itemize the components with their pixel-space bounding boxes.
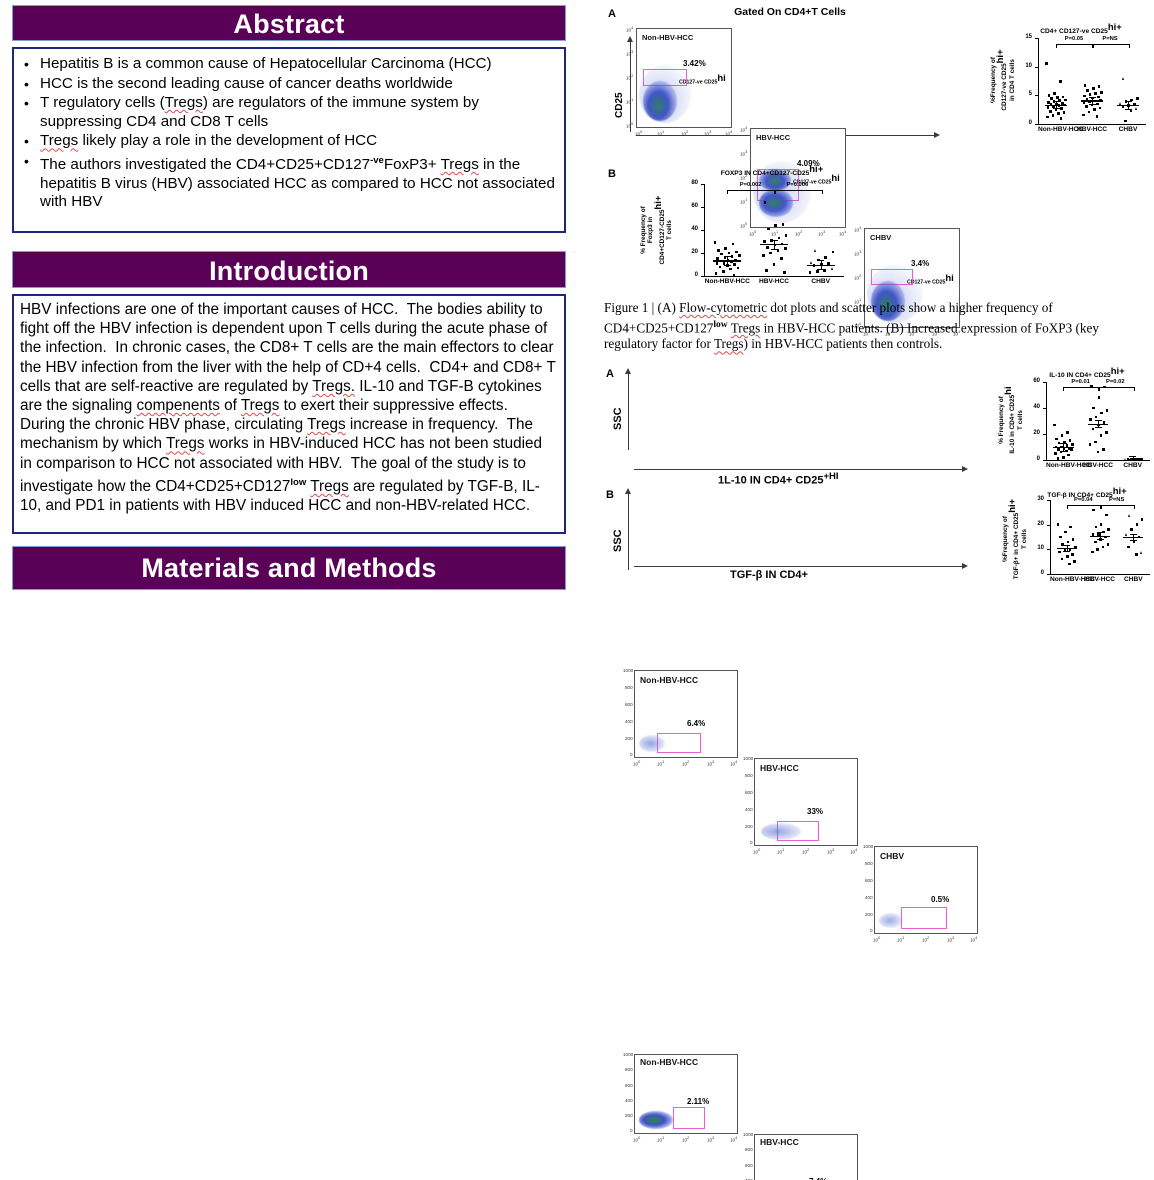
- scatter-pvalue-label: P=NS: [1100, 497, 1133, 503]
- flow-plot-label: CHBV: [870, 233, 891, 242]
- scatter-error-cap: [1060, 451, 1067, 452]
- scatter-x-tick-label: CHBV: [1117, 576, 1150, 583]
- figure2-panel-b-letter: B: [606, 489, 614, 501]
- scatter-data-point: [1071, 443, 1074, 446]
- flow-plot-chbv-il10: CHBV 0.5% 1000 800 600 400 200 0 100 101…: [874, 846, 978, 934]
- scatter-data-point: [1089, 443, 1092, 446]
- scatter-data-point: [1086, 89, 1089, 92]
- scatter-error-cap: [1089, 97, 1096, 98]
- figure1-panel-a-title: Gated On CD4+T Cells: [660, 6, 920, 18]
- scatter-data-point: [724, 247, 727, 250]
- scatter-error-bar: [1056, 101, 1057, 109]
- scatter-pvalue-label: P=0.02: [1098, 379, 1133, 385]
- scatter-x-tick-label: CHBV: [1110, 126, 1146, 133]
- scatter-data-point: [1085, 105, 1088, 108]
- scatter-data-point: [1098, 85, 1101, 88]
- flow-plot-non-hbv-hcc-il10: Non-HBV-HCC 6.4% 1000 800 600 400 200 0 …: [634, 670, 738, 758]
- scatter-data-point: [810, 261, 812, 264]
- scatter-data-point: [1136, 523, 1139, 526]
- scatter-pvalue-label: P=0.05: [1056, 36, 1092, 42]
- figure2b-xaxis-line: [634, 566, 964, 567]
- scatter-x-tick-label: Non-HBV-HCC: [704, 278, 751, 285]
- abstract-title: Abstract: [233, 9, 344, 39]
- scatter-data-point: [783, 271, 786, 274]
- flow-plot-percent: 7.4%: [809, 1177, 827, 1180]
- scatter-data-point: [1063, 111, 1066, 114]
- scatter-title: FOXP3 IN CD4+CD127-CD25hi+: [687, 164, 857, 177]
- materials-title: Materials and Methods: [141, 553, 436, 583]
- scatter-y-tick-label: 10: [1024, 545, 1044, 551]
- scatter-error-cap: [1063, 551, 1070, 552]
- figure2a-xaxis-label: 1L-10 IN CD4+ CD25+HI: [718, 471, 839, 487]
- scatter-y-tickmark: [1047, 500, 1050, 501]
- scatter-y-tick-label: 10: [1012, 63, 1032, 69]
- scatter-data-point: [1066, 431, 1069, 434]
- scatter-data-point: [1067, 541, 1070, 544]
- scatter-data-point: [778, 237, 781, 240]
- scatter-data-point: [1068, 563, 1071, 566]
- scatter-data-point: [1124, 120, 1127, 123]
- scatter-data-point: [1083, 95, 1086, 98]
- gate-rectangle: [673, 1107, 705, 1129]
- scatter-data-point: [717, 249, 720, 252]
- scatter-data-point: [1122, 77, 1124, 80]
- scatter-data-point: [1052, 114, 1055, 117]
- scatter-data-point: [1059, 80, 1062, 83]
- scatter-data-point: [737, 267, 740, 270]
- scatter-y-tick-label: 15: [1012, 34, 1032, 40]
- abstract-bullet-list: Hepatitis B is a common cause of Hepatoc…: [20, 55, 556, 212]
- scatter-data-point: [735, 251, 738, 254]
- scatter-y-tick-label: 30: [1024, 496, 1044, 502]
- scatter-x-tick-label: CHBV: [1115, 462, 1150, 469]
- scatter-data-point: [1095, 526, 1098, 529]
- scatter-y-tick-label: 0: [1012, 120, 1032, 126]
- scatter-data-point: [733, 263, 736, 266]
- figure2b-yaxis-line: [628, 492, 629, 570]
- scatter-data-point: [763, 240, 766, 243]
- scatter-data-point: [1092, 87, 1095, 90]
- scatter-data-point: [733, 274, 736, 277]
- scatter-error-cap: [1053, 108, 1060, 109]
- scatter-data-point: [1064, 531, 1067, 534]
- figure1-panel-a-letter: A: [608, 8, 616, 20]
- scatter-error-cap: [1125, 101, 1132, 102]
- scatter-data-point: [1140, 551, 1142, 554]
- scatter-data-point: [1067, 454, 1070, 457]
- scatter-data-point: [784, 247, 787, 250]
- scatter-y-tickmark: [1043, 460, 1046, 461]
- scatter-y-tickmark: [1043, 434, 1046, 435]
- scatter-data-point: [1062, 456, 1065, 459]
- scatter-y-tickmark: [1047, 549, 1050, 550]
- scatter-data-point: [1099, 107, 1102, 110]
- scatter-data-point: [1096, 103, 1099, 106]
- scatter-y-tickmark: [701, 207, 704, 208]
- scatter-data-point: [1046, 116, 1049, 119]
- scatter-error-cap: [724, 265, 731, 266]
- figure2a-xaxis-arrow: [962, 466, 968, 472]
- scatter-data-point: [1094, 92, 1097, 95]
- scatter-data-point: [1057, 112, 1060, 115]
- flow-plot-hbv-hcc-il10: HBV-HCC 33% 1000 800 600 400 200 0 100 1…: [754, 758, 858, 846]
- scatter-data-point: [714, 241, 717, 244]
- section-header-materials: Materials and Methods: [12, 546, 566, 590]
- abstract-box: Hepatitis B is a common cause of Hepatoc…: [12, 47, 566, 233]
- scatter-y-tickmark: [1043, 382, 1046, 383]
- scatter-data-point: [1127, 546, 1130, 549]
- scatter-data-point: [831, 267, 833, 270]
- scatter-data-point: [1093, 108, 1096, 111]
- scatter-error-cap: [1130, 534, 1137, 535]
- flow-plot-label: CHBV: [880, 851, 904, 861]
- figure1-caption: Figure 1 | (A) Flow-cytometric dot plots…: [604, 300, 1150, 353]
- scatter-data-point: [1088, 111, 1091, 114]
- figure1-xaxis-arrow: [934, 132, 940, 138]
- scatter-data-point: [1100, 412, 1103, 415]
- scatter-data-point: [1092, 407, 1095, 410]
- scatter-data-point: [1128, 514, 1130, 517]
- scatter-data-point: [1070, 448, 1073, 451]
- scatter-data-point: [1094, 541, 1097, 544]
- scatter-significance-bracket: [1063, 387, 1100, 391]
- scatter-y-tick-label: 40: [1020, 404, 1040, 410]
- scatter-error-cap: [724, 256, 731, 257]
- scatter-y-tick-label: 20: [678, 249, 698, 255]
- introduction-body: HBV infections are one of the important …: [20, 300, 558, 515]
- scatter-pvalue-label: P=NS: [1092, 36, 1128, 42]
- flow-plot-percent: 3.4%: [911, 259, 929, 268]
- flow-plot-non-hbv-hcc-cd25: Non-HBV-HCC 3.42% CD127-ve CD25hi 104 10…: [636, 28, 732, 128]
- scatter-significance-bracket: [774, 190, 823, 194]
- scatter-error-cap: [771, 249, 778, 250]
- scatter-data-point: [1098, 396, 1101, 399]
- scatter-data-point: [814, 249, 816, 252]
- scatter-y-tick-label: 20: [1024, 521, 1044, 527]
- scatter-data-point: [774, 224, 777, 227]
- scatter-x-tick-label: HBV-HCC: [1083, 576, 1116, 583]
- scatter-error-cap: [1125, 109, 1132, 110]
- figure2a-yaxis-arrow: [625, 368, 631, 374]
- flow-plot-label: HBV-HCC: [756, 133, 790, 142]
- scatter-data-point: [1048, 94, 1051, 97]
- scatter-x-axis: [704, 276, 844, 277]
- scatter-data-point: [1082, 114, 1085, 117]
- scatter-error-bar: [727, 256, 728, 264]
- scatter-data-point: [832, 251, 835, 254]
- scatter-data-point: [1061, 558, 1064, 561]
- scatter-y-tickmark: [1035, 38, 1038, 39]
- scatter-data-point: [1097, 451, 1100, 454]
- scatter-error-cap: [1097, 539, 1104, 540]
- scatter-data-point: [764, 201, 767, 204]
- scatter-data-point: [809, 271, 812, 274]
- list-item: Tregs likely play a role in the developm…: [20, 132, 556, 151]
- scatter-y-tickmark: [701, 253, 704, 254]
- scatter-data-point: [1135, 107, 1137, 110]
- scatter-error-cap: [1053, 101, 1060, 102]
- scatter-data-point: [1102, 448, 1105, 451]
- scatter-data-point: [1084, 84, 1087, 87]
- figure2a-yaxis-label: SSC: [612, 407, 624, 430]
- scatter-error-cap: [1095, 427, 1102, 428]
- scatter-y-axis: [1050, 500, 1051, 574]
- scatter-y-tick-label: 0: [1020, 456, 1040, 462]
- scatter-y-tickmark: [1035, 124, 1038, 125]
- flow-plot-label: Non-HBV-HCC: [640, 1057, 698, 1067]
- flow-plot-percent: 2.11%: [687, 1097, 709, 1106]
- scatter-data-point: [1053, 92, 1056, 95]
- flow-plot-label: Non-HBV-HCC: [642, 33, 693, 42]
- scatter-error-cap: [1060, 443, 1067, 444]
- figure2b-yaxis-label: SSC: [612, 529, 624, 552]
- left-column: Abstract Hepatitis B is a common cause o…: [0, 0, 578, 590]
- scatter-data-point: [722, 270, 725, 273]
- scatter-data-point: [1097, 96, 1100, 99]
- poster-root: Abstract Hepatitis B is a common cause o…: [0, 0, 1154, 590]
- scatter-data-point: [1054, 452, 1057, 455]
- scatter-data-point: [1100, 91, 1103, 94]
- scatter-data-point: [715, 272, 718, 275]
- scatter-data-point: [1072, 538, 1075, 541]
- scatter-error-cap: [1097, 532, 1104, 533]
- scatter-error-cap: [817, 269, 824, 270]
- scatter-error-cap: [1129, 456, 1136, 457]
- scatter-y-tick-label: 5: [1012, 91, 1032, 97]
- figure2b-xaxis-label: TGF-β IN CD4+: [730, 569, 808, 581]
- scatter-data-point: [1096, 115, 1099, 118]
- scatter-error-cap: [1089, 104, 1096, 105]
- scatter-data-point: [785, 234, 788, 237]
- scatter-error-cap: [1129, 460, 1136, 461]
- scatter-data-point: [762, 254, 765, 257]
- scatter-data-point: [1102, 546, 1105, 549]
- scatter-data-point: [765, 269, 768, 272]
- scatter-y-tick-label: 0: [1024, 570, 1044, 576]
- scatter-data-point: [1094, 441, 1097, 444]
- scatter-x-tick-label: HBV-HCC: [1081, 462, 1116, 469]
- figure2a-yaxis-line: [628, 372, 629, 450]
- scatter-data-point: [1107, 543, 1110, 546]
- scatter-data-point: [1135, 553, 1138, 556]
- scatter-significance-bracket: [1098, 387, 1135, 391]
- scatter-data-point: [1089, 418, 1092, 421]
- gate-rectangle: [901, 907, 947, 929]
- density-cloud-outer: [639, 65, 691, 123]
- figure1-yaxis-label: CD25: [614, 92, 625, 118]
- scatter-error-bar: [1098, 420, 1099, 427]
- flow-plot-label: HBV-HCC: [760, 763, 799, 773]
- scatter-plot-tgfb: TGF-β IN CD4+ CD25hi+ %Frequency ofTGF-β…: [996, 486, 1154, 590]
- scatter-y-tickmark: [1047, 574, 1050, 575]
- density-cloud: [879, 913, 903, 928]
- scatter-data-point: [719, 266, 722, 269]
- scatter-error-cap: [1130, 540, 1137, 541]
- list-item: HCC is the second leading cause of cance…: [20, 75, 556, 94]
- list-item: T regulatory cells (Tregs) are regulator…: [20, 94, 556, 131]
- scatter-data-point: [1057, 523, 1060, 526]
- scatter-x-tick-label: Non-HBV-HCC: [1050, 576, 1083, 583]
- figure1-yaxis-arrow: [627, 36, 633, 42]
- scatter-error-cap: [1095, 420, 1102, 421]
- scatter-data-point: [728, 252, 731, 255]
- scatter-x-axis: [1050, 574, 1150, 575]
- scatter-x-axis: [1038, 124, 1146, 125]
- scatter-data-point: [773, 263, 776, 266]
- scatter-data-point: [1130, 528, 1133, 531]
- scatter-y-tickmark: [1035, 95, 1038, 96]
- scatter-data-point: [1105, 514, 1108, 517]
- scatter-data-point: [1136, 97, 1139, 100]
- flow-plot-non-hbv-hcc-tgfb: Non-HBV-HCC 2.11% 1000 800 600 400 200 0…: [634, 1054, 738, 1134]
- scatter-data-point: [780, 257, 783, 260]
- scatter-y-tickmark: [1043, 408, 1046, 409]
- scatter-y-tickmark: [701, 276, 704, 277]
- scatter-ylabel: % Frequency ofFoxp3 inCD4+CD127-CD25hi+T…: [640, 178, 674, 282]
- scatter-data-point: [1058, 551, 1061, 554]
- scatter-data-point: [769, 252, 772, 255]
- scatter-data-point: [716, 262, 719, 265]
- scatter-data-point: [1141, 518, 1144, 521]
- scatter-data-point: [1045, 62, 1048, 65]
- scatter-error-cap: [771, 240, 778, 241]
- scatter-y-axis: [704, 184, 705, 276]
- scatter-pvalue-label: P=0.04: [1067, 497, 1100, 503]
- section-header-introduction: Introduction: [12, 251, 566, 288]
- scatter-data-point: [1060, 107, 1063, 110]
- scatter-data-point: [767, 228, 770, 231]
- scatter-significance-bracket: [1100, 505, 1135, 509]
- scatter-y-tickmark: [1047, 525, 1050, 526]
- scatter-y-tick-label: 0: [678, 272, 698, 278]
- scatter-data-point: [1047, 106, 1050, 109]
- scatter-data-point: [1069, 526, 1072, 529]
- list-item: The authors investigated the CD4+CD25+CD…: [20, 152, 556, 212]
- scatter-y-tickmark: [1035, 67, 1038, 68]
- scatter-ylabel: %Frequency ofCD127-ve CD25hi+in CD4 T ce…: [990, 34, 1016, 126]
- scatter-pvalue-label: P=0.01: [1063, 379, 1098, 385]
- scatter-data-point: [1055, 438, 1058, 441]
- scatter-data-point: [1083, 101, 1086, 104]
- scatter-y-axis: [1038, 38, 1039, 124]
- scatter-data-point: [729, 268, 732, 271]
- scatter-data-point: [1069, 439, 1072, 442]
- scatter-error-bar: [1128, 101, 1129, 109]
- scatter-data-point: [1059, 536, 1062, 539]
- scatter-data-point: [1061, 434, 1064, 437]
- scatter-data-point: [824, 256, 827, 259]
- flow-plot-label: Non-HBV-HCC: [640, 675, 698, 685]
- scatter-data-point: [1095, 416, 1098, 419]
- scatter-data-point: [732, 243, 735, 246]
- flow-plot-percent: 3.42%: [683, 59, 706, 68]
- scatter-x-tick-label: Non-HBV-HCC: [1038, 126, 1074, 133]
- scatter-y-tick-label: 60: [678, 203, 698, 209]
- flow-plot-percent: 6.4%: [687, 719, 705, 728]
- scatter-x-tick-label: Non-HBV-HCC: [1046, 462, 1081, 469]
- density-cloud: [639, 735, 665, 752]
- section-header-abstract: Abstract: [12, 5, 566, 41]
- scatter-ylabel: % Frequency ofIL-10 in CD4+ CD25hiT cell…: [998, 376, 1024, 464]
- scatter-data-point: [1100, 434, 1103, 437]
- scatter-error-bar: [1063, 443, 1064, 450]
- figure1-panel-b-letter: B: [608, 168, 616, 180]
- scatter-pvalue-label: P=0.002: [727, 182, 774, 188]
- scatter-y-tickmark: [701, 230, 704, 231]
- flow-plot-percent: 33%: [807, 807, 823, 816]
- scatter-plot-il10: IL-10 IN CD4+ CD25hi+ % Frequency ofIL-1…: [990, 366, 1154, 474]
- scatter-data-point: [1107, 528, 1110, 531]
- figure2-panel-a-letter: A: [606, 368, 614, 380]
- scatter-data-point: [1060, 117, 1063, 120]
- scatter-data-point: [1053, 424, 1056, 427]
- scatter-data-point: [1049, 110, 1052, 113]
- scatter-title: IL-10 IN CD4+ CD25hi+: [1020, 366, 1154, 379]
- scatter-data-point: [766, 246, 769, 249]
- density-cloud: [639, 1111, 673, 1129]
- flow-plot-percent: 0.5%: [931, 895, 949, 904]
- introduction-title: Introduction: [209, 256, 369, 286]
- scatter-y-tick-label: 20: [1020, 430, 1040, 436]
- scatter-data-point: [1057, 457, 1060, 460]
- scatter-data-point: [782, 223, 785, 226]
- scatter-significance-bracket: [1067, 505, 1102, 509]
- scatter-data-point: [720, 253, 723, 256]
- scatter-data-point: [1071, 553, 1074, 556]
- scatter-error-cap: [817, 260, 824, 261]
- scatter-significance-bracket: [727, 190, 776, 194]
- scatter-data-point: [731, 255, 734, 258]
- scatter-data-point: [816, 270, 819, 273]
- scatter-y-tick-label: 60: [1020, 378, 1040, 384]
- scatter-x-tick-label: HBV-HCC: [1074, 126, 1110, 133]
- scatter-plot-cd127-cd25: CD4+ CD127-ve CD25hi+ %Frequency ofCD127…: [980, 22, 1152, 140]
- scatter-y-tick-label: 80: [678, 180, 698, 186]
- scatter-data-point: [1106, 409, 1109, 412]
- scatter-data-point: [738, 254, 741, 257]
- scatter-x-tick-label: HBV-HCC: [751, 278, 798, 285]
- scatter-x-tick-label: CHBV: [797, 278, 844, 285]
- scatter-y-tick-label: 40: [678, 226, 698, 232]
- flow-plot-hbv-hcc-tgfb: HBV-HCC 7.4% 1000 800 600 400 200 0 100 …: [754, 1134, 858, 1180]
- scatter-error-bar: [1092, 97, 1093, 105]
- scatter-y-tickmark: [701, 184, 704, 185]
- scatter-data-point: [1125, 533, 1127, 536]
- scatter-data-point: [1064, 99, 1067, 102]
- scatter-data-point: [1091, 551, 1094, 554]
- scatter-error-bar: [774, 240, 775, 248]
- scatter-data-point: [1066, 555, 1069, 558]
- figure2b-xaxis-arrow: [962, 563, 968, 569]
- scatter-data-point: [1096, 548, 1099, 551]
- scatter-plot-foxp3: FOXP3 IN CD4+CD127-CD25hi+ % Frequency o…: [632, 164, 852, 292]
- list-item: Hepatitis B is a common cause of Hepatoc…: [20, 55, 556, 74]
- scatter-error-bar: [821, 260, 822, 268]
- scatter-significance-bracket: [1056, 44, 1094, 48]
- scatter-data-point: [777, 249, 780, 252]
- scatter-data-point: [1105, 431, 1108, 434]
- scatter-error-cap: [1063, 545, 1070, 546]
- figure2b-yaxis-arrow: [625, 488, 631, 494]
- flow-plot-label: HBV-HCC: [760, 1137, 799, 1147]
- density-cloud: [761, 823, 801, 840]
- scatter-significance-bracket: [1092, 44, 1130, 48]
- right-column: A Gated On CD4+T Cells CD25 CD127 Non-HB…: [600, 0, 1154, 590]
- scatter-data-point: [1100, 523, 1103, 526]
- scatter-data-point: [1073, 560, 1076, 563]
- scatter-y-axis: [1046, 382, 1047, 460]
- introduction-box: HBV infections are one of the important …: [12, 294, 566, 534]
